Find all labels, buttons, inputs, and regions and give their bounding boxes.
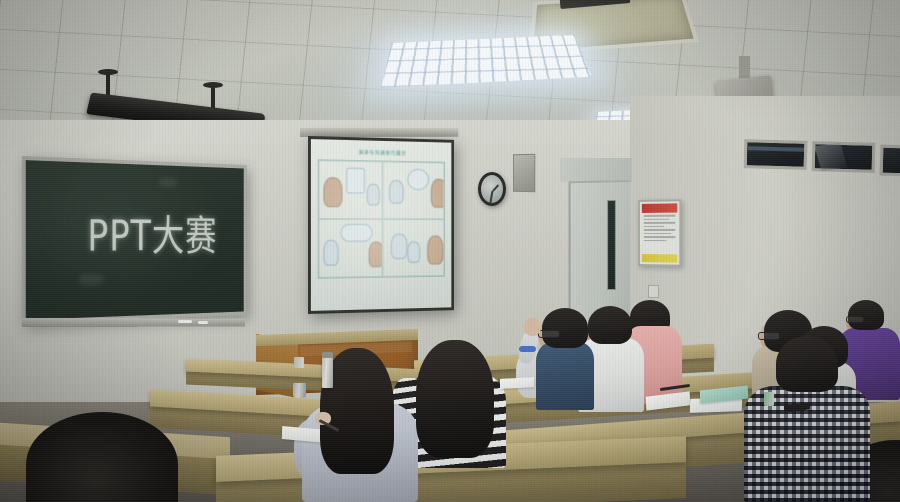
cartoon-bear-icon-3 xyxy=(369,242,383,268)
green-bottle[interactable] xyxy=(764,392,774,406)
person-man-purple-tee-hair xyxy=(848,300,884,330)
thermos-cap xyxy=(322,352,333,358)
wall-clock-icon xyxy=(478,172,506,206)
slide-panel-top-left xyxy=(319,160,383,219)
chalk-piece-2[interactable] xyxy=(198,321,208,324)
slide-panel-bottom-right xyxy=(383,219,445,277)
wall-speaker xyxy=(513,154,535,193)
door-transom-header xyxy=(560,158,632,182)
person-man-plaid-shirt-hair xyxy=(776,336,838,392)
classroom-scene: PPT大赛 演讲与沟通技巧展示 xyxy=(0,0,900,502)
notice-body xyxy=(642,213,677,242)
slide-panel-top-right xyxy=(383,161,445,219)
wall-notice-poster[interactable] xyxy=(638,199,681,267)
clock-minute-hand xyxy=(490,191,494,203)
notice-text-line-3 xyxy=(644,222,676,224)
light-switch-plate[interactable] xyxy=(648,285,659,298)
chalk-piece[interactable] xyxy=(178,320,192,323)
person-man-navy-vest-hand xyxy=(524,318,541,336)
person-man-white-shirt-hair xyxy=(588,306,632,344)
cartoon-figure-icon xyxy=(367,184,380,206)
person-woman-striped-top-hair xyxy=(416,340,494,458)
cartoon-bear-icon-2 xyxy=(431,179,444,208)
chalk-smudge-2 xyxy=(78,274,104,286)
person-man-navy-vest-hair xyxy=(542,308,588,348)
paper-sheet-back[interactable] xyxy=(500,377,534,389)
eyeglasses-icon xyxy=(538,330,560,338)
eyeglasses-icon-beige xyxy=(758,332,780,340)
projected-slide: 演讲与沟通技巧展示 xyxy=(311,139,451,311)
notice-text-line-5 xyxy=(644,229,676,231)
notice-text-line-7 xyxy=(644,236,676,238)
blackboard-surface: PPT大赛 xyxy=(26,160,244,320)
cartoon-figure-icon-5 xyxy=(407,241,420,262)
cartoon-oval-icon xyxy=(407,169,429,191)
notice-header-band xyxy=(642,203,677,213)
notice-text-line-6 xyxy=(644,232,672,234)
metal-cup[interactable] xyxy=(293,383,306,398)
cartoon-figure-icon-4 xyxy=(391,234,407,259)
transom-window xyxy=(744,139,808,170)
transom-window-3 xyxy=(880,145,900,177)
blackboard-chalk-text: PPT大赛 xyxy=(87,201,217,264)
cartoon-document-icon xyxy=(346,168,365,194)
cartoon-bear-icon-4 xyxy=(427,236,443,265)
notice-text-line-8 xyxy=(644,240,667,242)
projection-screen: 演讲与沟通技巧展示 xyxy=(308,136,454,314)
chalk-smudge xyxy=(158,177,178,187)
door-vision-panel xyxy=(607,200,616,290)
small-mug[interactable] xyxy=(294,357,304,368)
notice-text-line-2 xyxy=(644,218,669,220)
slide-title: 演讲与沟通技巧展示 xyxy=(318,148,445,158)
slide-panel-grid xyxy=(318,159,445,279)
cartoon-figure-icon-2 xyxy=(389,180,404,204)
cartoon-speech-cloud-icon xyxy=(341,224,373,242)
classroom-door[interactable] xyxy=(569,180,630,320)
notice-footer-band xyxy=(642,254,677,263)
chalk-tray xyxy=(22,318,245,327)
blue-wristband xyxy=(519,346,536,352)
person-man-navy-vest xyxy=(536,342,594,410)
cartoon-bear-icon xyxy=(323,177,342,207)
blackboard: PPT大赛 xyxy=(22,156,247,324)
thermos-bottle[interactable] xyxy=(322,356,333,388)
eyeglasses-icon-purple xyxy=(846,316,864,323)
cartoon-figure-icon-3 xyxy=(323,240,338,266)
notice-text-line xyxy=(644,215,676,217)
notice-text-line-4 xyxy=(644,225,665,227)
slide-panel-bottom-left xyxy=(319,219,383,278)
